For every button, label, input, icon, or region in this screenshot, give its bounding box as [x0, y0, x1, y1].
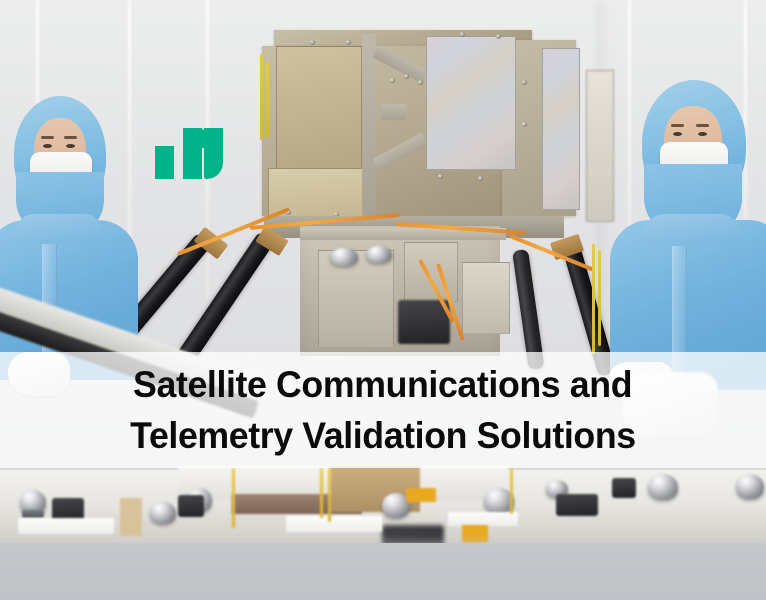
bench-tag [406, 488, 436, 502]
bench-equipment [612, 478, 636, 498]
bus-plate [404, 242, 458, 302]
cleanroom-photo [0, 0, 766, 600]
cable-harness [598, 250, 601, 346]
bench-equipment [178, 495, 204, 517]
foreground-blur [0, 543, 766, 600]
bench-fixture [648, 474, 678, 500]
ni-logo-mark [183, 128, 202, 179]
bench-paper [18, 518, 114, 534]
bus-plate [462, 262, 510, 334]
ni-logo-mark [155, 146, 174, 179]
banner-title-line-2: Telemetry Validation Solutions [130, 410, 636, 461]
technician-right [616, 80, 766, 380]
title-overlay-band: Satellite Communications and Telemetry V… [0, 352, 766, 468]
bench-paper [448, 512, 518, 526]
bench-equipment [556, 494, 598, 516]
banner-image: Satellite Communications and Telemetry V… [0, 0, 766, 600]
ni-logo [155, 128, 223, 179]
bench-fixture [736, 474, 764, 499]
bench-tag [120, 498, 142, 536]
bench-paper [286, 516, 382, 532]
ni-logo-mark [204, 128, 223, 179]
bus-plate [318, 250, 394, 348]
satellite-payload [250, 18, 580, 248]
bench-fixture [150, 502, 176, 524]
bracket [586, 70, 614, 222]
cable-harness [592, 244, 595, 354]
banner-title-line-1: Satellite Communications and [133, 359, 632, 410]
